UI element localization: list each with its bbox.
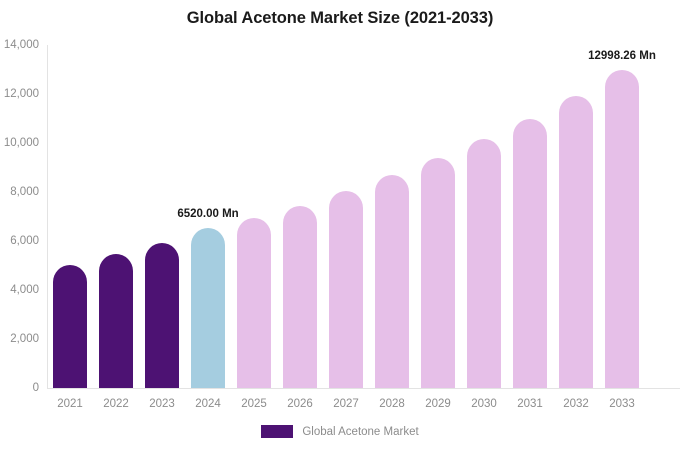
bar-value-label-2024: 6520.00 Mn <box>177 208 238 220</box>
x-axis-tick-2024: 2024 <box>185 398 231 410</box>
bar-slot-2033: 12998.26 Mn <box>599 45 645 388</box>
x-axis-line <box>47 388 680 389</box>
bar-slot-2025 <box>231 45 277 388</box>
bar-2022[interactable] <box>99 254 133 388</box>
bar-slot-2031 <box>507 45 553 388</box>
bar-2025[interactable] <box>237 218 271 388</box>
y-axis-tick-4000: 4,000 <box>10 284 39 296</box>
bar-2024[interactable] <box>191 228 225 388</box>
bar-series: 6520.00 Mn12998.26 Mn <box>47 45 680 388</box>
x-axis-tick-2023: 2023 <box>139 398 185 410</box>
bar-2033[interactable] <box>605 70 639 388</box>
x-axis-tick-2022: 2022 <box>93 398 139 410</box>
bar-2030[interactable] <box>467 139 501 388</box>
x-axis-tick-2028: 2028 <box>369 398 415 410</box>
x-axis-tick-2030: 2030 <box>461 398 507 410</box>
bar-2032[interactable] <box>559 96 593 388</box>
chart-title: Global Acetone Market Size (2021-2033) <box>0 9 680 28</box>
bar-slot-2028 <box>369 45 415 388</box>
plot-area: 02,0004,0006,0008,00010,00012,00014,000 … <box>47 45 680 388</box>
chart-container: Global Acetone Market Size (2021-2033) 0… <box>0 0 680 450</box>
x-axis-tick-2032: 2032 <box>553 398 599 410</box>
chart-legend: Global Acetone Market <box>0 425 680 438</box>
bar-slot-2027 <box>323 45 369 388</box>
y-axis-tick-6000: 6,000 <box>10 235 39 247</box>
bar-slot-2032 <box>553 45 599 388</box>
bar-slot-2029 <box>415 45 461 388</box>
legend-swatch-icon <box>261 425 293 438</box>
y-axis-tick-12000: 12,000 <box>4 88 39 100</box>
y-axis-tick-0: 0 <box>33 382 39 394</box>
bar-slot-2026 <box>277 45 323 388</box>
y-axis-tick-14000: 14,000 <box>4 39 39 51</box>
x-axis-tick-2025: 2025 <box>231 398 277 410</box>
legend-item-0[interactable]: Global Acetone Market <box>261 425 418 438</box>
bar-2023[interactable] <box>145 243 179 388</box>
bar-2031[interactable] <box>513 119 547 389</box>
x-axis-tick-2026: 2026 <box>277 398 323 410</box>
bar-2027[interactable] <box>329 191 363 388</box>
bar-slot-2024: 6520.00 Mn <box>185 45 231 388</box>
x-axis-tick-2029: 2029 <box>415 398 461 410</box>
y-axis-tick-2000: 2,000 <box>10 333 39 345</box>
bar-slot-2022 <box>93 45 139 388</box>
bar-2029[interactable] <box>421 158 455 388</box>
y-axis-tick-8000: 8,000 <box>10 186 39 198</box>
x-axis-tick-2021: 2021 <box>47 398 93 410</box>
y-axis-tick-10000: 10,000 <box>4 137 39 149</box>
bar-slot-2030 <box>461 45 507 388</box>
bar-2021[interactable] <box>53 265 87 388</box>
bar-2026[interactable] <box>283 206 317 388</box>
x-axis-tick-2031: 2031 <box>507 398 553 410</box>
x-axis-tick-2033: 2033 <box>599 398 645 410</box>
legend-label: Global Acetone Market <box>302 426 418 438</box>
bar-slot-2021 <box>47 45 93 388</box>
bar-value-label-2033: 12998.26 Mn <box>588 50 656 62</box>
bar-2028[interactable] <box>375 175 409 388</box>
x-axis-tick-2027: 2027 <box>323 398 369 410</box>
